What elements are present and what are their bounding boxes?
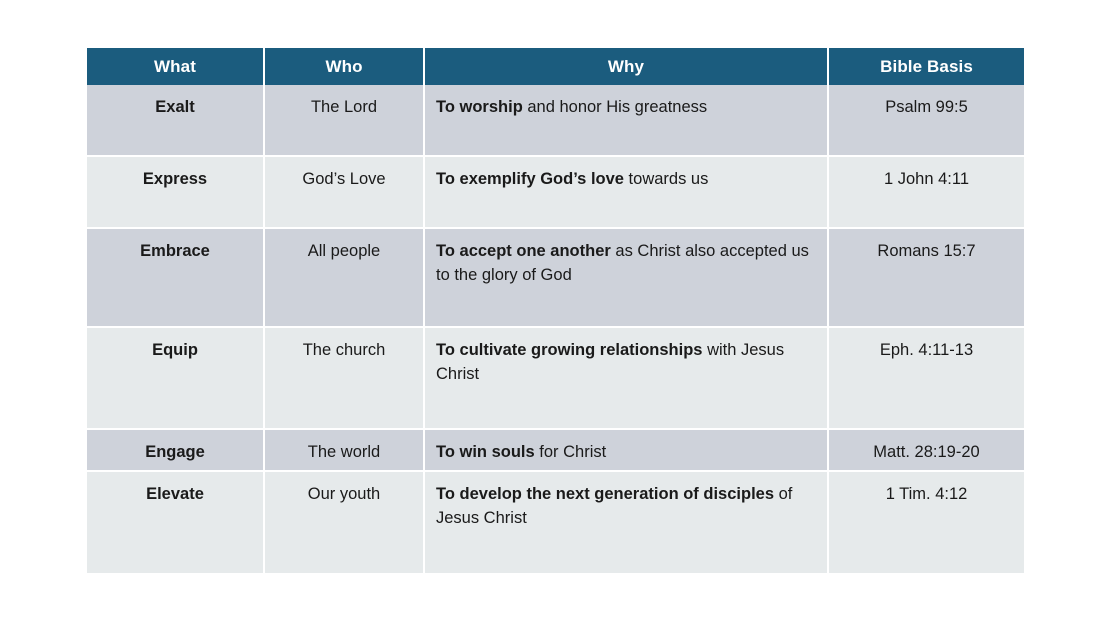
cell-who: God’s Love bbox=[264, 156, 424, 228]
cell-why: To worship and honor His greatness bbox=[424, 85, 828, 156]
column-header-who: Who bbox=[264, 48, 424, 85]
column-header-bible-basis: Bible Basis bbox=[828, 48, 1024, 85]
cell-what: Elevate bbox=[87, 471, 264, 573]
why-rest-text: towards us bbox=[624, 170, 708, 188]
cell-bible-basis: Matt. 28:19-20 bbox=[828, 429, 1024, 471]
cell-bible-basis: Psalm 99:5 bbox=[828, 85, 1024, 156]
values-table: What Who Why Bible Basis Exalt The Lord … bbox=[87, 48, 1024, 573]
slide-canvas: What Who Why Bible Basis Exalt The Lord … bbox=[0, 0, 1100, 619]
why-rest-text: and honor His greatness bbox=[523, 98, 707, 116]
cell-bible-basis: Romans 15:7 bbox=[828, 228, 1024, 327]
cell-why: To cultivate growing relationships with … bbox=[424, 327, 828, 429]
why-rest-text: for Christ bbox=[535, 443, 607, 461]
why-lead-text: To develop the next generation of discip… bbox=[436, 485, 774, 503]
cell-why: To develop the next generation of discip… bbox=[424, 471, 828, 573]
why-lead-text: To cultivate growing relationships bbox=[436, 341, 702, 359]
cell-why: To accept one another as Christ also acc… bbox=[424, 228, 828, 327]
table-row: Equip The church To cultivate growing re… bbox=[87, 327, 1024, 429]
table-row: Engage The world To win souls for Christ… bbox=[87, 429, 1024, 471]
column-header-why: Why bbox=[424, 48, 828, 85]
cell-who: Our youth bbox=[264, 471, 424, 573]
column-header-what: What bbox=[87, 48, 264, 85]
why-lead-text: To exemplify God’s love bbox=[436, 170, 624, 188]
cell-what: Engage bbox=[87, 429, 264, 471]
table-container: What Who Why Bible Basis Exalt The Lord … bbox=[87, 48, 1024, 563]
cell-who: The Lord bbox=[264, 85, 424, 156]
table-header: What Who Why Bible Basis bbox=[87, 48, 1024, 85]
cell-bible-basis: 1 John 4:11 bbox=[828, 156, 1024, 228]
cell-who: The world bbox=[264, 429, 424, 471]
cell-what: Exalt bbox=[87, 85, 264, 156]
why-lead-text: To accept one another bbox=[436, 242, 611, 260]
cell-who: All people bbox=[264, 228, 424, 327]
cell-bible-basis: Eph. 4:11-13 bbox=[828, 327, 1024, 429]
table-row: Elevate Our youth To develop the next ge… bbox=[87, 471, 1024, 573]
table-row: Express God’s Love To exemplify God’s lo… bbox=[87, 156, 1024, 228]
table-header-row: What Who Why Bible Basis bbox=[87, 48, 1024, 85]
why-lead-text: To worship bbox=[436, 98, 523, 116]
table-body: Exalt The Lord To worship and honor His … bbox=[87, 85, 1024, 573]
cell-what: Embrace bbox=[87, 228, 264, 327]
cell-what: Express bbox=[87, 156, 264, 228]
cell-why: To win souls for Christ bbox=[424, 429, 828, 471]
why-lead-text: To win souls bbox=[436, 443, 535, 461]
cell-what: Equip bbox=[87, 327, 264, 429]
cell-why: To exemplify God’s love towards us bbox=[424, 156, 828, 228]
table-row: Exalt The Lord To worship and honor His … bbox=[87, 85, 1024, 156]
cell-who: The church bbox=[264, 327, 424, 429]
table-row: Embrace All people To accept one another… bbox=[87, 228, 1024, 327]
cell-bible-basis: 1 Tim. 4:12 bbox=[828, 471, 1024, 573]
